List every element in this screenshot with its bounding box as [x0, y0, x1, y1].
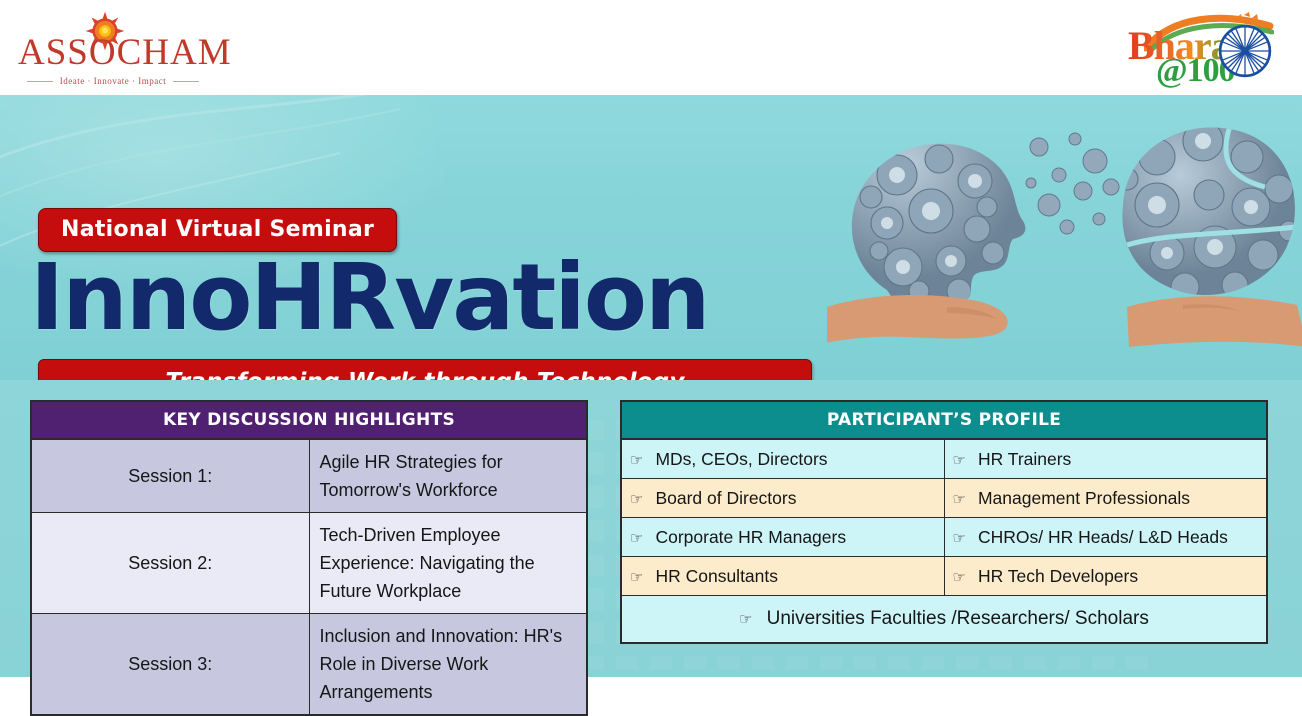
table-row: ☞Board of Directors ☞Management Professi…	[621, 479, 1267, 518]
bharat-at-100-logo: Bharat @100	[1104, 2, 1294, 92]
tagline-impact: Impact	[138, 76, 166, 86]
content-area: KEY DISCUSSION HIGHLIGHTS Session 1: Agi…	[0, 380, 1302, 677]
session-label: Session 1:	[31, 439, 309, 513]
table-header-row: KEY DISCUSSION HIGHLIGHTS	[31, 401, 587, 439]
table-row: ☞Corporate HR Managers ☞CHROs/ HR Heads/…	[621, 518, 1267, 557]
pointing-hand-icon: ☞	[953, 568, 966, 586]
event-title: InnoHRvation	[30, 250, 709, 346]
table-row: Session 1: Agile HR Strategies for Tomor…	[31, 439, 587, 513]
participant-cell: ☞Board of Directors	[621, 479, 944, 518]
participant-cell: ☞Corporate HR Managers	[621, 518, 944, 557]
session-label: Session 3:	[31, 614, 309, 716]
participants-profile-table: PARTICIPANT’S PROFILE ☞MDs, CEOs, Direct…	[620, 400, 1268, 644]
pointing-hand-icon: ☞	[953, 529, 966, 547]
participant-label: HR Consultants	[655, 566, 778, 586]
tagline-ideate: Ideate	[60, 76, 85, 86]
pointing-hand-icon: ☞	[630, 490, 643, 508]
tagline-dash-left: -----------	[57, 370, 166, 380]
tagline-rule-left	[27, 81, 53, 82]
session-topic: Agile HR Strategies for Tomorrow's Workf…	[309, 439, 587, 513]
participant-label: Corporate HR Managers	[655, 527, 846, 547]
participant-cell: ☞HR Tech Developers	[944, 557, 1267, 596]
pointing-hand-icon: ☞	[630, 529, 643, 547]
participant-label: HR Trainers	[978, 449, 1071, 469]
session-topic: Inclusion and Innovation: HR's Role in D…	[309, 614, 587, 716]
event-banner: National Virtual Seminar InnoHRvation --…	[0, 95, 1302, 380]
tagline-innovate: Innovate	[94, 76, 130, 86]
assocham-wordmark: ASSOCHAM	[18, 32, 208, 74]
participant-cell: ☞CHROs/ HR Heads/ L&D Heads	[944, 518, 1267, 557]
session-topic: Tech-Driven Employee Experience: Navigat…	[309, 513, 587, 614]
table-row: ☞MDs, CEOs, Directors ☞HR Trainers	[621, 439, 1267, 479]
sessions-table-header: KEY DISCUSSION HIGHLIGHTS	[31, 401, 587, 439]
participant-cell: ☞MDs, CEOs, Directors	[621, 439, 944, 479]
participants-table-header: PARTICIPANT’S PROFILE	[621, 401, 1267, 439]
tagline-dash-right: -----------	[685, 370, 794, 380]
table-header-row: PARTICIPANT’S PROFILE	[621, 401, 1267, 439]
participant-label: MDs, CEOs, Directors	[655, 449, 827, 469]
participant-label: Management Professionals	[978, 488, 1190, 508]
gear-heads-in-hands-image	[827, 95, 1302, 380]
participant-cell: ☞HR Consultants	[621, 557, 944, 596]
ashoka-chakra-icon	[1218, 24, 1272, 78]
tagline-rule-right	[173, 81, 199, 82]
table-row: Session 3: Inclusion and Innovation: HR'…	[31, 614, 587, 716]
participant-label: CHROs/ HR Heads/ L&D Heads	[978, 527, 1228, 547]
participant-label: Universities Faculties /Researchers/ Sch…	[767, 608, 1149, 629]
participant-label: Board of Directors	[655, 488, 796, 508]
logo-bar: ASSOCHAM Ideate · Innovate · Impact Bhar…	[0, 0, 1302, 95]
event-tagline: Transforming Work through Technology	[165, 369, 684, 380]
table-row: Session 2: Tech-Driven Employee Experien…	[31, 513, 587, 614]
key-discussion-highlights-table: KEY DISCUSSION HIGHLIGHTS Session 1: Agi…	[30, 400, 588, 716]
session-label: Session 2:	[31, 513, 309, 614]
table-row: ☞HR Consultants ☞HR Tech Developers	[621, 557, 1267, 596]
assocham-logo: ASSOCHAM Ideate · Innovate · Impact	[10, 4, 210, 92]
participant-label: HR Tech Developers	[978, 566, 1138, 586]
pointing-hand-icon: ☞	[953, 490, 966, 508]
assocham-tagline: Ideate · Innovate · Impact	[18, 76, 208, 86]
event-tagline-bar: ----------- Transforming Work through Te…	[38, 359, 812, 380]
participant-cell: ☞HR Trainers	[944, 439, 1267, 479]
gear-heads-artwork	[827, 95, 1302, 380]
pointing-hand-icon: ☞	[630, 451, 643, 469]
table-row: ☞Universities Faculties /Researchers/ Sc…	[621, 596, 1267, 644]
pointing-hand-icon: ☞	[953, 451, 966, 469]
participant-cell-full: ☞Universities Faculties /Researchers/ Sc…	[621, 596, 1267, 644]
pointing-hand-icon: ☞	[630, 568, 643, 586]
participant-cell: ☞Management Professionals	[944, 479, 1267, 518]
pointing-hand-icon: ☞	[739, 610, 752, 628]
